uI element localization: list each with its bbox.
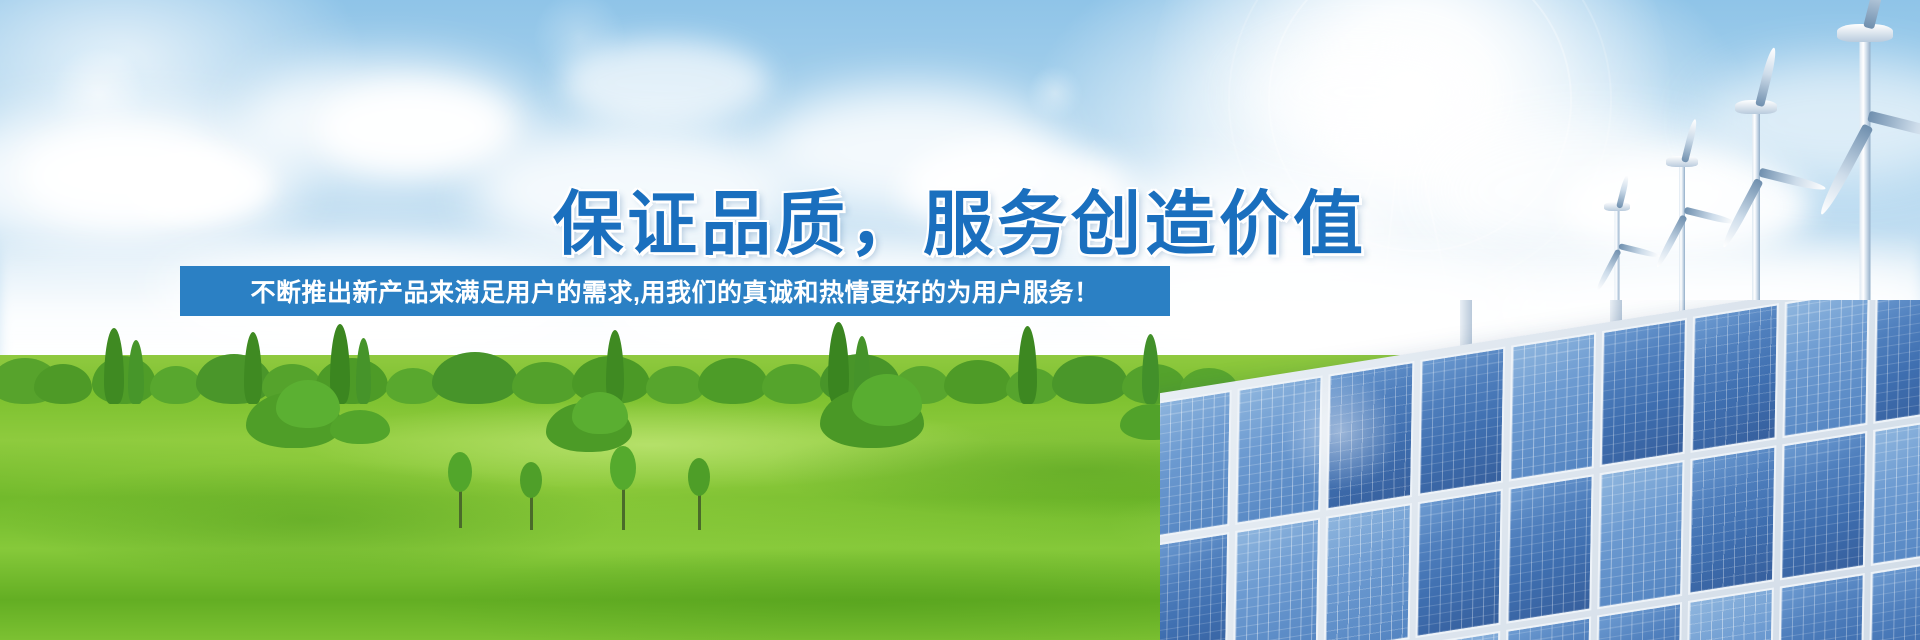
solar-panel-cell xyxy=(1873,300,1920,424)
sapling-tree xyxy=(448,452,472,528)
lens-flare xyxy=(1028,66,1082,120)
sapling-tree xyxy=(610,446,636,530)
solar-panel-cell xyxy=(1871,417,1920,567)
conifer-tree xyxy=(356,338,371,404)
cloud xyxy=(560,40,770,126)
cloud xyxy=(1240,44,1480,140)
sapling-tree xyxy=(520,462,542,530)
cloud xyxy=(318,86,508,170)
conifer-tree xyxy=(1018,326,1037,404)
solar-panel-cell xyxy=(1600,318,1688,468)
solar-panel-cell xyxy=(1777,573,1865,640)
solar-panel-cell xyxy=(1324,503,1412,640)
hero-banner: 保证品质，服务创造价值 不断推出新产品来满足用户的需求,用我们的真诚和热情更好的… xyxy=(0,0,1920,640)
solar-panel-cell xyxy=(1686,587,1774,640)
conifer-tree xyxy=(128,340,144,404)
solar-panel-cell xyxy=(1509,332,1597,482)
solar-panel-cell xyxy=(1868,559,1920,640)
solar-panel-cell xyxy=(1160,532,1229,640)
conifer-tree xyxy=(104,328,124,404)
solar-panel-cell xyxy=(1233,517,1321,640)
page-title: 保证品质，服务创造价值 xyxy=(0,168,1920,269)
conifer-tree xyxy=(1142,334,1159,404)
solar-panel-cell xyxy=(1160,390,1232,540)
subtitle-bar: 不断推出新产品来满足用户的需求,用我们的真诚和热情更好的为用户服务！ xyxy=(180,266,1170,316)
solar-panel-cell xyxy=(1688,445,1776,595)
background-tree-line xyxy=(0,338,1250,400)
solar-panel-glare xyxy=(1280,372,1400,492)
subtitle-text: 不断推出新产品来满足用户的需求,用我们的真诚和热情更好的为用户服务！ xyxy=(251,273,1100,309)
conifer-tree xyxy=(244,332,262,404)
solar-panel-cell xyxy=(1782,300,1870,438)
solar-panel-cell xyxy=(1506,474,1594,624)
solar-panel-cell xyxy=(1691,303,1779,453)
solar-panel-cell xyxy=(1418,347,1506,497)
solar-panel-cell xyxy=(1415,489,1503,639)
solar-panel-cell xyxy=(1779,431,1867,581)
solar-panel-cell xyxy=(1597,460,1685,610)
solar-panel-array xyxy=(1160,300,1920,640)
sapling-tree xyxy=(688,458,710,530)
solar-panel-frame xyxy=(1160,300,1920,640)
